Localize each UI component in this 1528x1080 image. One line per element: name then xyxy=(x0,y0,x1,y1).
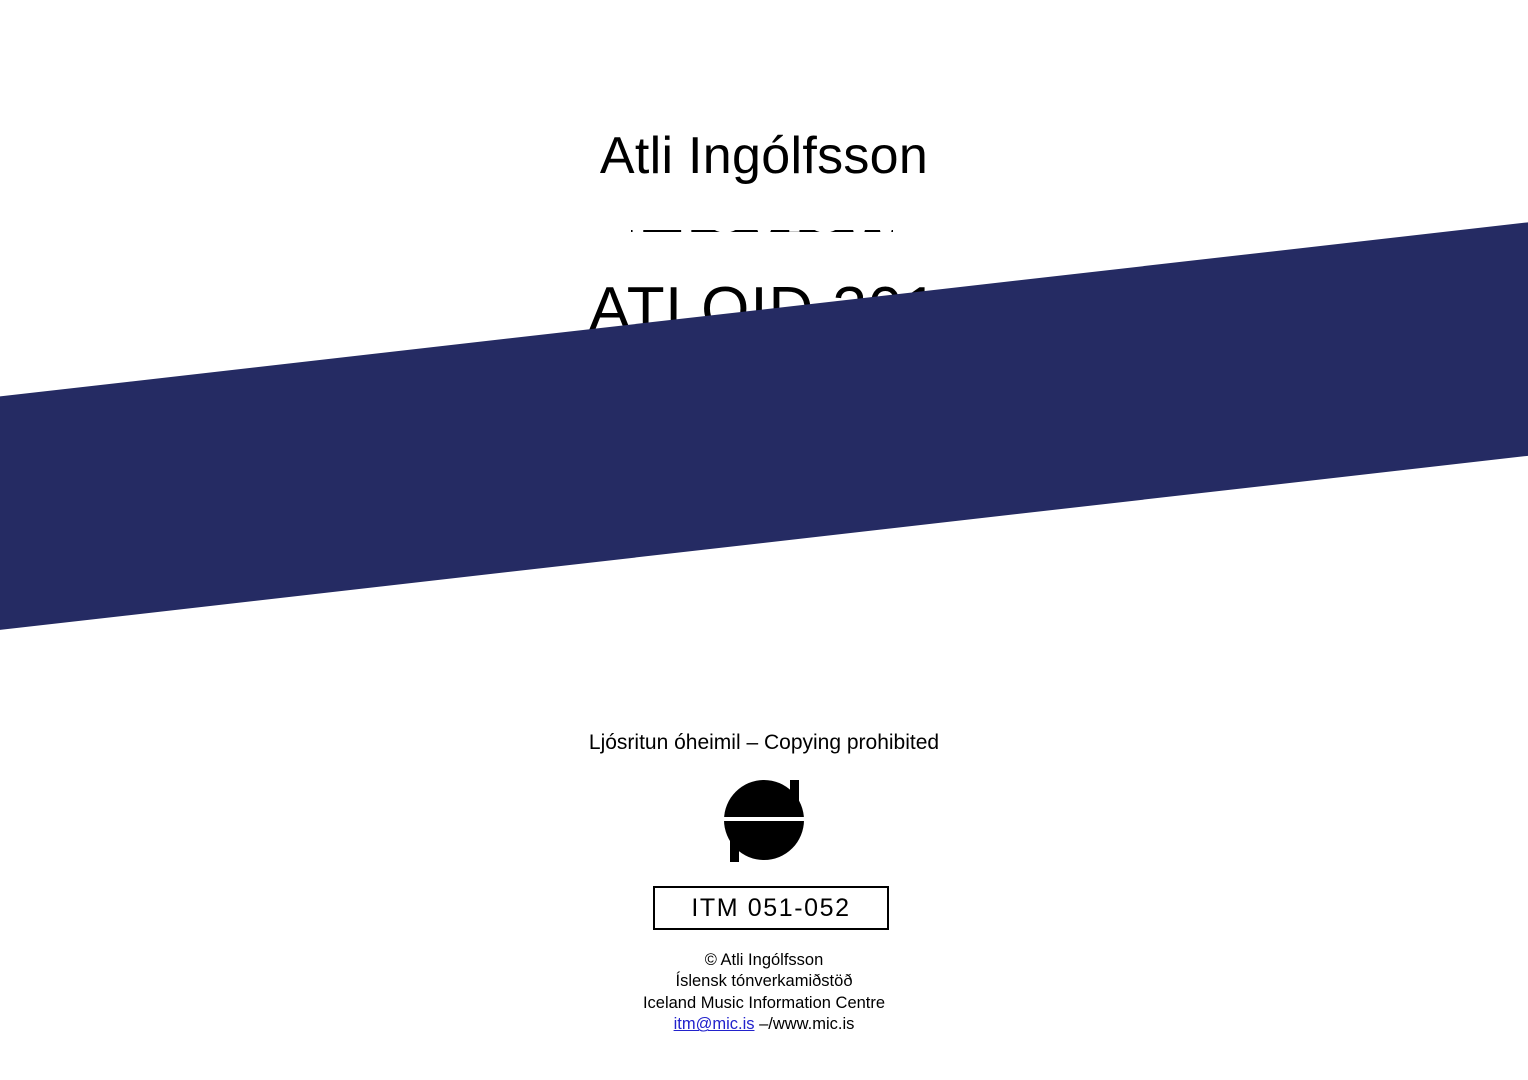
catalogue-number: ITM 051-052 xyxy=(691,896,850,921)
publisher-emblem-icon xyxy=(716,778,812,864)
footer-publisher-icelandic: Íslensk tónverkamiðstöð xyxy=(0,971,1528,992)
score-cover-page: Atli Ingólfsson ATLOID 301 (2008) Previe… xyxy=(0,0,1528,1080)
footer-block: © Atli Ingólfsson Íslensk tónverkamiðstö… xyxy=(0,950,1528,1036)
footer-contact-line: itm@mic.is –/www.mic.is xyxy=(0,1014,1528,1035)
footer-website: –/www.mic.is xyxy=(754,1015,854,1033)
footer-publisher-english: Iceland Music Information Centre xyxy=(0,993,1528,1014)
catalogue-number-box: ITM 051-052 xyxy=(653,886,889,930)
footer-email-link[interactable]: itm@mic.is xyxy=(674,1015,755,1033)
publisher-emblem-wrapper xyxy=(0,778,1528,869)
footer-copyright: © Atli Ingólfsson xyxy=(0,950,1528,971)
logo-line-icelandic: Tónlistarmiðstöð xyxy=(739,258,851,275)
title-divider-rule xyxy=(631,230,893,232)
composer-name: Atli Ingólfsson xyxy=(0,128,1528,185)
copying-prohibited-notice: Ljósritun óheimil – Copying prohibited xyxy=(0,730,1528,755)
